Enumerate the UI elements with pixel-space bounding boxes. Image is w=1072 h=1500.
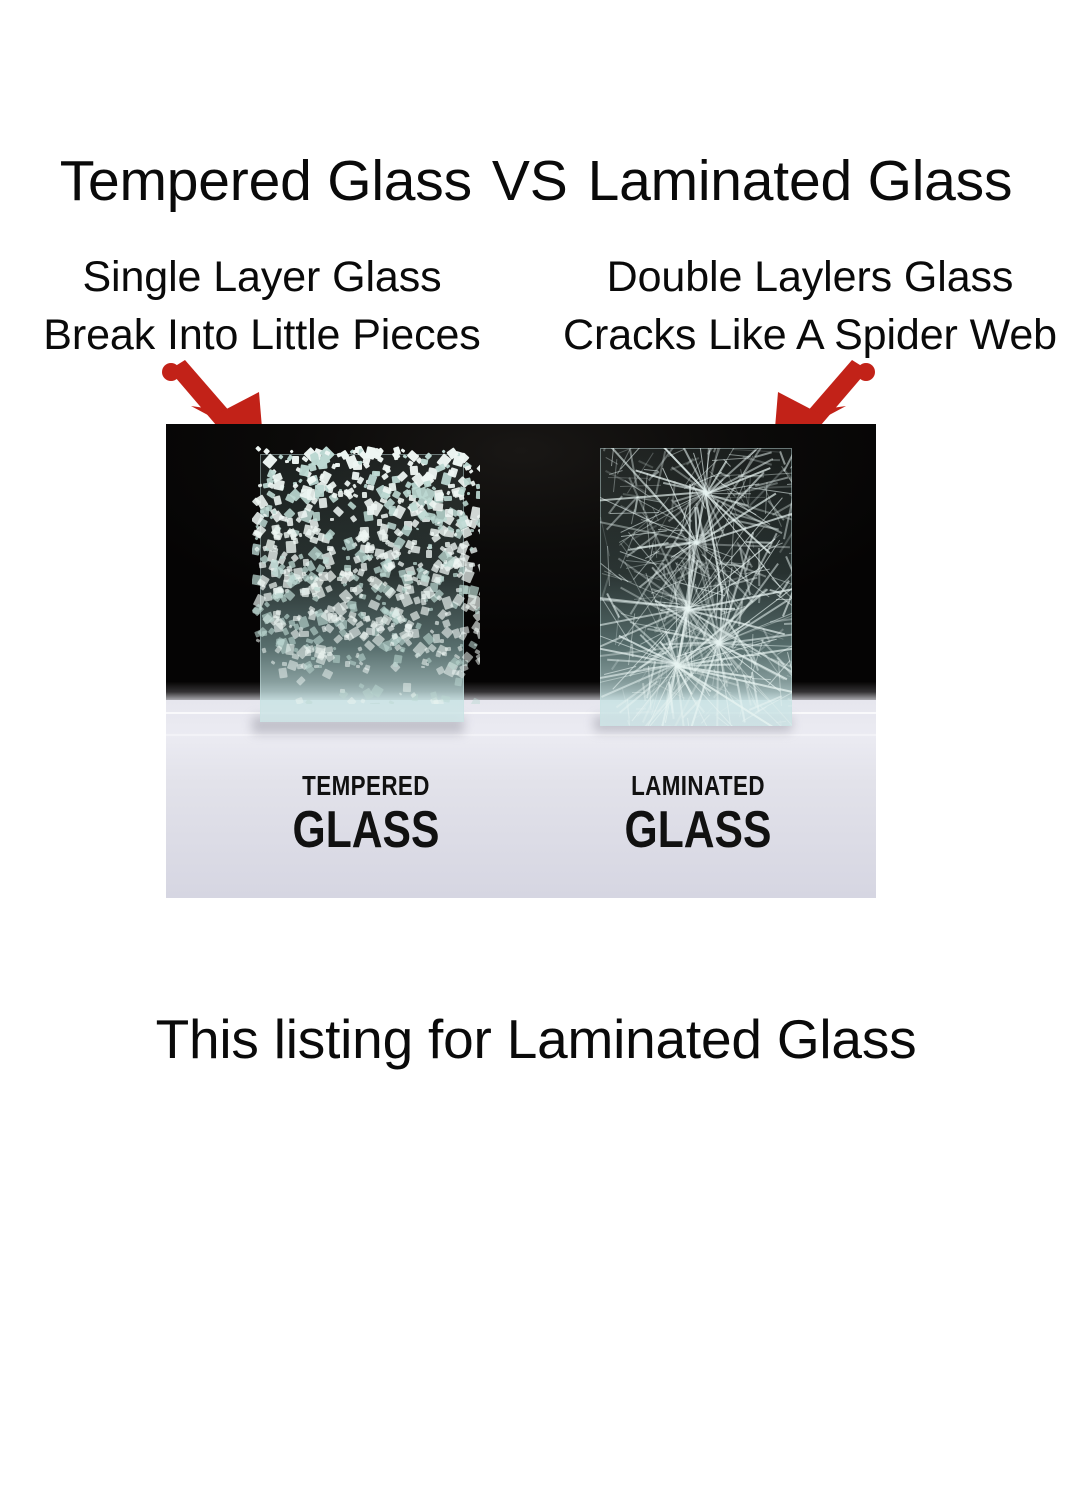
tempered-description-line-1: Single Layer Glass xyxy=(2,248,522,306)
floor-highlight-2 xyxy=(166,734,876,736)
laminated-description-line-1: Double Laylers Glass xyxy=(546,248,1072,306)
laminated-description-line-2: Cracks Like A Spider Web xyxy=(546,306,1072,364)
description-row: Single Layer Glass Break Into Little Pie… xyxy=(0,248,1072,366)
tempered-description-line-2: Break Into Little Pieces xyxy=(2,306,522,364)
page-title: Tempered GlassVSLaminated Glass xyxy=(0,148,1072,214)
glass-comparison-photo: TEMPERED GLASS LAMINATED GLASS xyxy=(166,424,876,898)
laminated-glass-panel xyxy=(600,448,792,726)
title-right-term: Laminated Glass xyxy=(588,149,1013,213)
comparison-infographic: Tempered GlassVSLaminated Glass Single L… xyxy=(0,0,1072,1500)
laminated-crack-web xyxy=(600,448,792,726)
title-separator: VS xyxy=(492,149,568,213)
photo-caption-tempered: TEMPERED GLASS xyxy=(226,772,506,856)
photo-caption-tempered-big: GLASS xyxy=(251,804,481,856)
photo-caption-tempered-small: TEMPERED xyxy=(254,772,478,800)
laminated-description: Double Laylers Glass Cracks Like A Spide… xyxy=(546,248,1072,364)
tempered-fragments xyxy=(252,446,480,704)
photo-caption-laminated: LAMINATED GLASS xyxy=(558,772,838,856)
photo-caption-laminated-small: LAMINATED xyxy=(586,772,810,800)
listing-note: This listing for Laminated Glass xyxy=(0,1004,1072,1074)
photo-caption-laminated-big: GLASS xyxy=(583,804,813,856)
title-left-term: Tempered Glass xyxy=(60,149,472,213)
tempered-description: Single Layer Glass Break Into Little Pie… xyxy=(2,248,522,364)
